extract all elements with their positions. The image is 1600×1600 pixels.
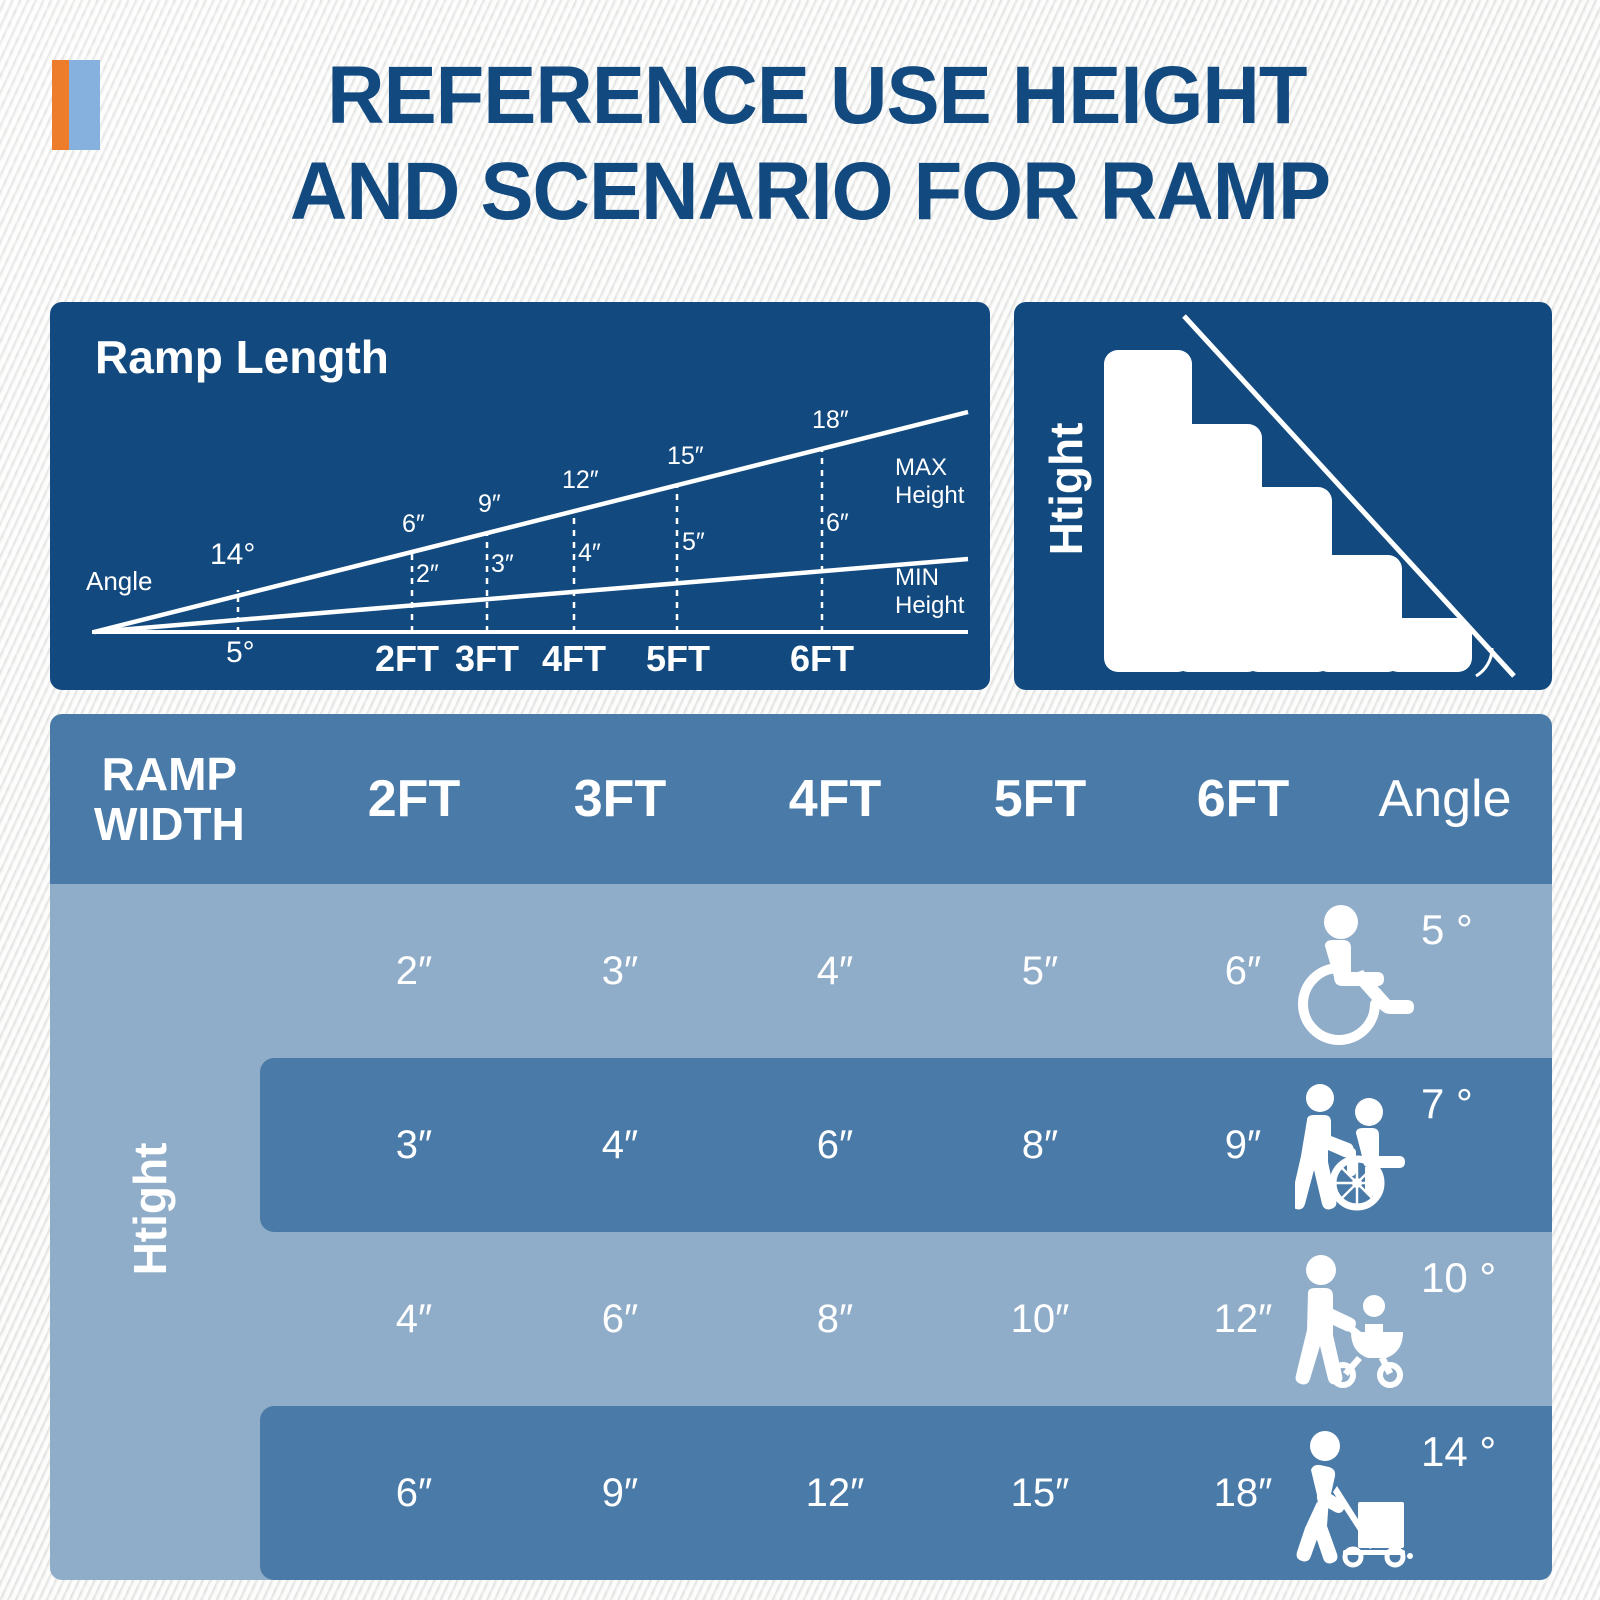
table-body: Htight 2″ 3″ 4″ 5″ 6″ 5 ° 3″ 4″ 6″ [50,884,1552,1580]
angle-value-r1: 5 ° [1421,906,1473,954]
cell-r3-2ft: 4″ [314,1232,514,1406]
ramp-max-value-3ft: 9″ [478,490,501,519]
table-header-row: RAMP WIDTH 2FT 3FT 4FT 5FT 6FT Angle [50,714,1552,884]
ramp-min-angle-label: 5° [226,636,255,670]
page-title-line-1: REFERENCE USE HEIGHT [83,48,1538,144]
ramp-length-diagram [50,302,990,690]
ramp-min-height-legend: MIN Height [895,564,964,620]
attendant-wheelchair-icon [1295,1070,1415,1220]
ramp-min-value-6ft: 6″ [826,509,849,538]
cell-r4-2ft: 6″ [314,1406,514,1580]
cell-r2-4ft: 6″ [735,1058,935,1232]
cell-r3-5ft: 10″ [940,1232,1140,1406]
ramp-min-value-2ft: 2″ [416,560,439,589]
accent-bar-orange [52,60,69,150]
stroller-icon [1295,1244,1415,1394]
table-header-4ft: 4FT [735,714,935,884]
cell-r4-4ft: 12″ [735,1406,935,1580]
ramp-max-value-2ft: 6″ [402,510,425,539]
table-header-ramp-width: RAMP WIDTH [84,714,314,884]
cell-r2-5ft: 8″ [940,1058,1140,1232]
ramp-min-value-5ft: 5″ [682,528,705,557]
table-header-2ft: 2FT [314,714,514,884]
table-row-label-htight: Htight [123,1084,177,1334]
ramp-max-height-legend: MAX Height [895,454,964,510]
ramp-max-value-4ft: 12″ [562,466,599,495]
cell-r3-3ft: 6″ [520,1232,720,1406]
ramp-angle-label: Angle [86,566,153,597]
stair-step-0 [1384,618,1472,672]
ramp-min-value-3ft: 3″ [491,550,514,579]
angle-value-r4: 14 ° [1421,1428,1496,1476]
table-header-angle: Angle [1340,714,1550,884]
ramp-axis-tick-6ft: 6FT [790,638,854,680]
ramp-min-value-4ft: 4″ [578,539,601,568]
ramp-axis-tick-2ft: 2FT [375,638,439,680]
ramp-length-panel: Ramp Length Angle 14° 5° 6″ 9″ 12″ 15″ 1… [50,302,990,690]
ramp-axis-tick-5ft: 5FT [646,638,710,680]
hand-truck-icon [1295,1418,1415,1568]
cell-r1-5ft: 5″ [940,884,1140,1058]
cell-r3-4ft: 8″ [735,1232,935,1406]
ramp-max-value-5ft: 15″ [667,442,704,471]
cell-r4-3ft: 9″ [520,1406,720,1580]
cell-r1-2ft: 2″ [314,884,514,1058]
cell-r3-angle: 10 ° [1295,1232,1545,1406]
page-title-line-2: AND SCENARIO FOR RAMP [83,144,1538,240]
table-header-6ft: 6FT [1143,714,1343,884]
angle-value-r3: 10 ° [1421,1254,1496,1302]
ramp-axis-tick-3ft: 3FT [455,638,519,680]
table-header-5ft: 5FT [940,714,1140,884]
cell-r2-angle: 7 ° [1295,1058,1545,1232]
ramp-reference-table: RAMP WIDTH 2FT 3FT 4FT 5FT 6FT Angle Hti… [50,714,1552,1580]
cell-r1-3ft: 3″ [520,884,720,1058]
stairs-height-panel: Htight [1014,302,1552,690]
page-title-block: REFERENCE USE HEIGHT AND SCENARIO FOR RA… [0,48,1600,238]
page-title: REFERENCE USE HEIGHT AND SCENARIO FOR RA… [83,48,1538,240]
ramp-max-angle-label: 14° [210,538,255,572]
stairs-diagram [1014,302,1552,690]
cell-r4-5ft: 15″ [940,1406,1140,1580]
cell-r4-angle: 14 ° [1295,1406,1545,1580]
cell-r2-2ft: 3″ [314,1058,514,1232]
angle-value-r2: 7 ° [1421,1080,1473,1128]
table-header-3ft: 3FT [520,714,720,884]
ramp-max-value-6ft: 18″ [812,406,849,435]
ramp-axis-tick-4ft: 4FT [542,638,606,680]
cell-r1-4ft: 4″ [735,884,935,1058]
cell-r2-3ft: 4″ [520,1058,720,1232]
cell-r1-angle: 5 ° [1295,884,1545,1058]
wheelchair-icon [1295,896,1415,1046]
